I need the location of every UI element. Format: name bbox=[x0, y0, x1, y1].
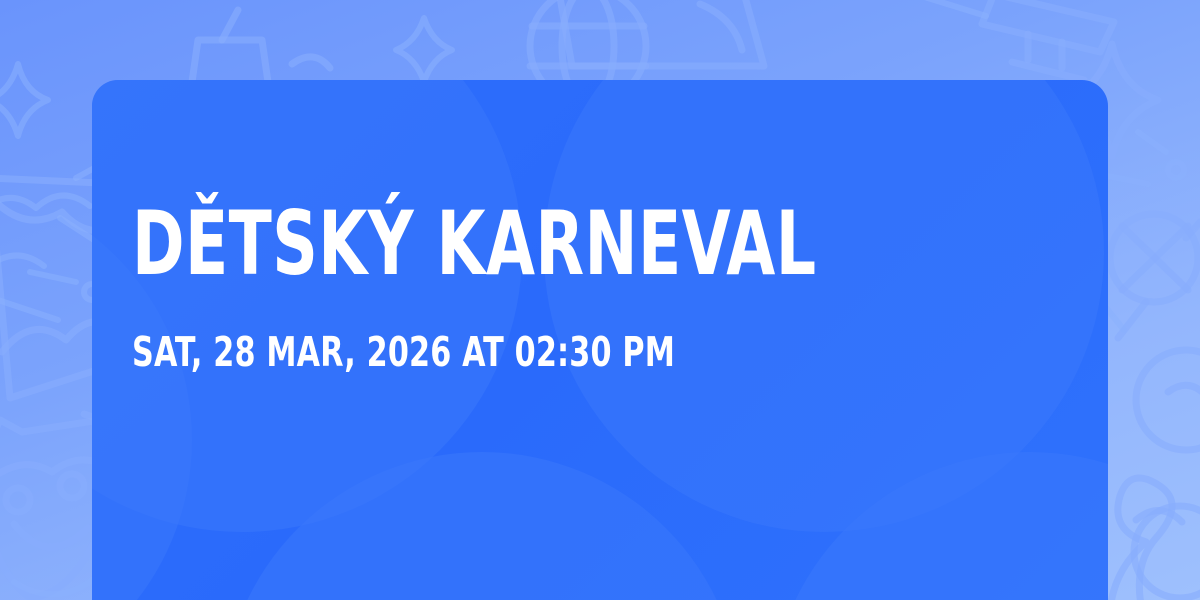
event-card[interactable]: DĚTSKÝ KARNEVAL SAT, 28 MAR, 2026 AT 02:… bbox=[92, 80, 1108, 600]
event-title: DĚTSKÝ KARNEVAL bbox=[132, 200, 881, 288]
confetti-icon bbox=[1108, 132, 1184, 184]
event-poster: DĚTSKÝ KARNEVAL SAT, 28 MAR, 2026 AT 02:… bbox=[0, 0, 1200, 600]
decorative-circle bbox=[770, 452, 1108, 600]
event-card-content: DĚTSKÝ KARNEVAL SAT, 28 MAR, 2026 AT 02:… bbox=[132, 200, 1068, 373]
sparkle-icon bbox=[396, 18, 452, 82]
popcorn-icon bbox=[0, 195, 90, 320]
theater-masks-icon bbox=[14, 574, 100, 594]
event-datetime: SAT, 28 MAR, 2026 AT 02:30 PM bbox=[132, 332, 900, 373]
banner-icon bbox=[902, 0, 986, 16]
balloon-icon bbox=[1134, 506, 1200, 598]
decorative-circle bbox=[222, 452, 742, 600]
balloon-icon bbox=[1109, 350, 1200, 600]
microphone-icon bbox=[1110, 214, 1200, 338]
confetti-icon bbox=[30, 166, 100, 300]
banner-icon bbox=[982, 0, 1114, 80]
sparkle-icon bbox=[0, 64, 48, 136]
